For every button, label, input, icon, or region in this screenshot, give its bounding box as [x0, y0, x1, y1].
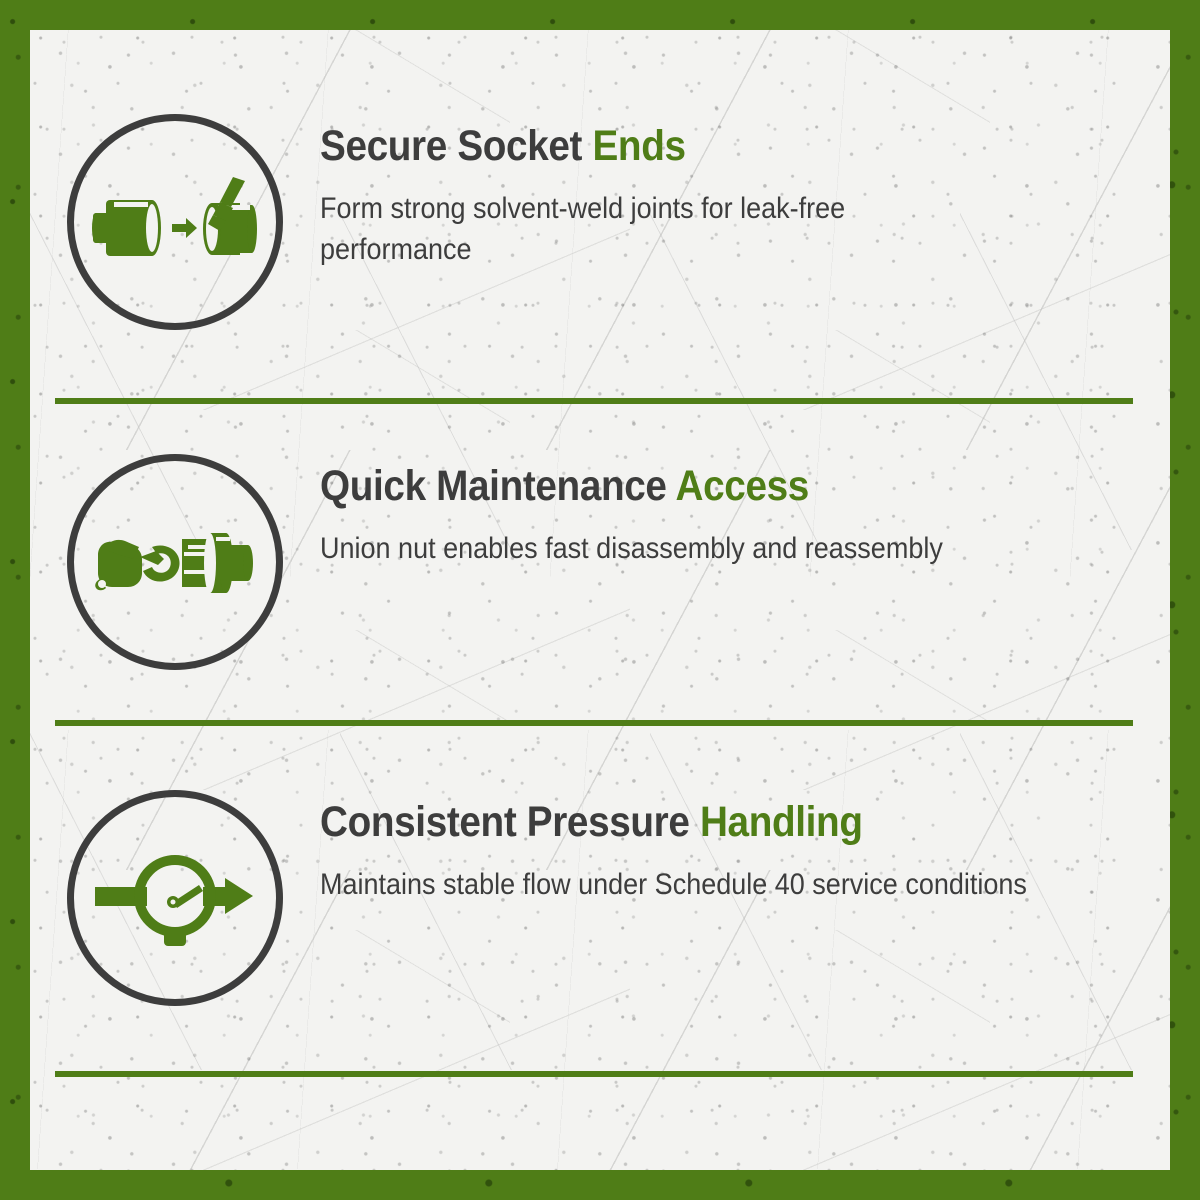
feature-1-title-main: Secure Socket: [320, 122, 592, 170]
feature-1-icon-container: [30, 102, 320, 330]
feature-2-description: Union nut enables fast disassembly and r…: [320, 529, 1058, 570]
icon-ring: [67, 790, 283, 1006]
icon-ring: [67, 114, 283, 330]
feature-2-icon-container: [30, 442, 320, 670]
hand-wrench-union-nut-icon: [90, 507, 260, 617]
feature-2-title: Quick Maintenance Access: [320, 464, 1058, 509]
feature-1-title-accent: Ends: [592, 122, 685, 170]
divider-after-feature-2: [55, 720, 1133, 726]
feature-1-description: Form strong solvent-weld joints for leak…: [320, 189, 968, 270]
feature-2-text-container: Quick Maintenance Access Union nut enabl…: [320, 442, 1170, 570]
content-panel: Secure Socket Ends Form strong solvent-w…: [30, 30, 1170, 1170]
feature-1-title: Secure Socket Ends: [320, 124, 1058, 169]
divider-after-feature-3: [55, 1071, 1133, 1077]
feature-2-title-main: Quick Maintenance: [320, 462, 676, 510]
feature-3-text-container: Consistent Pressure Handling Maintains s…: [320, 778, 1170, 906]
feature-3-icon-container: [30, 778, 320, 1006]
divider-after-feature-1: [55, 398, 1133, 404]
inline-pressure-gauge-flow-icon: [93, 838, 258, 958]
feature-item-consistent-pressure-handling: Consistent Pressure Handling Maintains s…: [30, 778, 1170, 1068]
feature-1-text-container: Secure Socket Ends Form strong solvent-w…: [320, 102, 1170, 270]
feature-item-quick-maintenance-access: Quick Maintenance Access Union nut enabl…: [30, 442, 1170, 732]
feature-item-secure-socket-ends: Secure Socket Ends Form strong solvent-w…: [30, 102, 1170, 392]
icon-ring: [67, 454, 283, 670]
feature-3-title-main: Consistent Pressure: [320, 798, 700, 846]
feature-3-title: Consistent Pressure Handling: [320, 800, 1058, 845]
feature-3-description: Maintains stable flow under Schedule 40 …: [320, 865, 1031, 906]
feature-2-title-accent: Access: [676, 462, 809, 510]
feature-3-title-accent: Handling: [700, 798, 863, 846]
feature-list: Secure Socket Ends Form strong solvent-w…: [30, 30, 1170, 1170]
socket-weld-pipe-icon: [90, 167, 260, 277]
outer-green-frame: Secure Socket Ends Form strong solvent-w…: [0, 0, 1200, 1200]
